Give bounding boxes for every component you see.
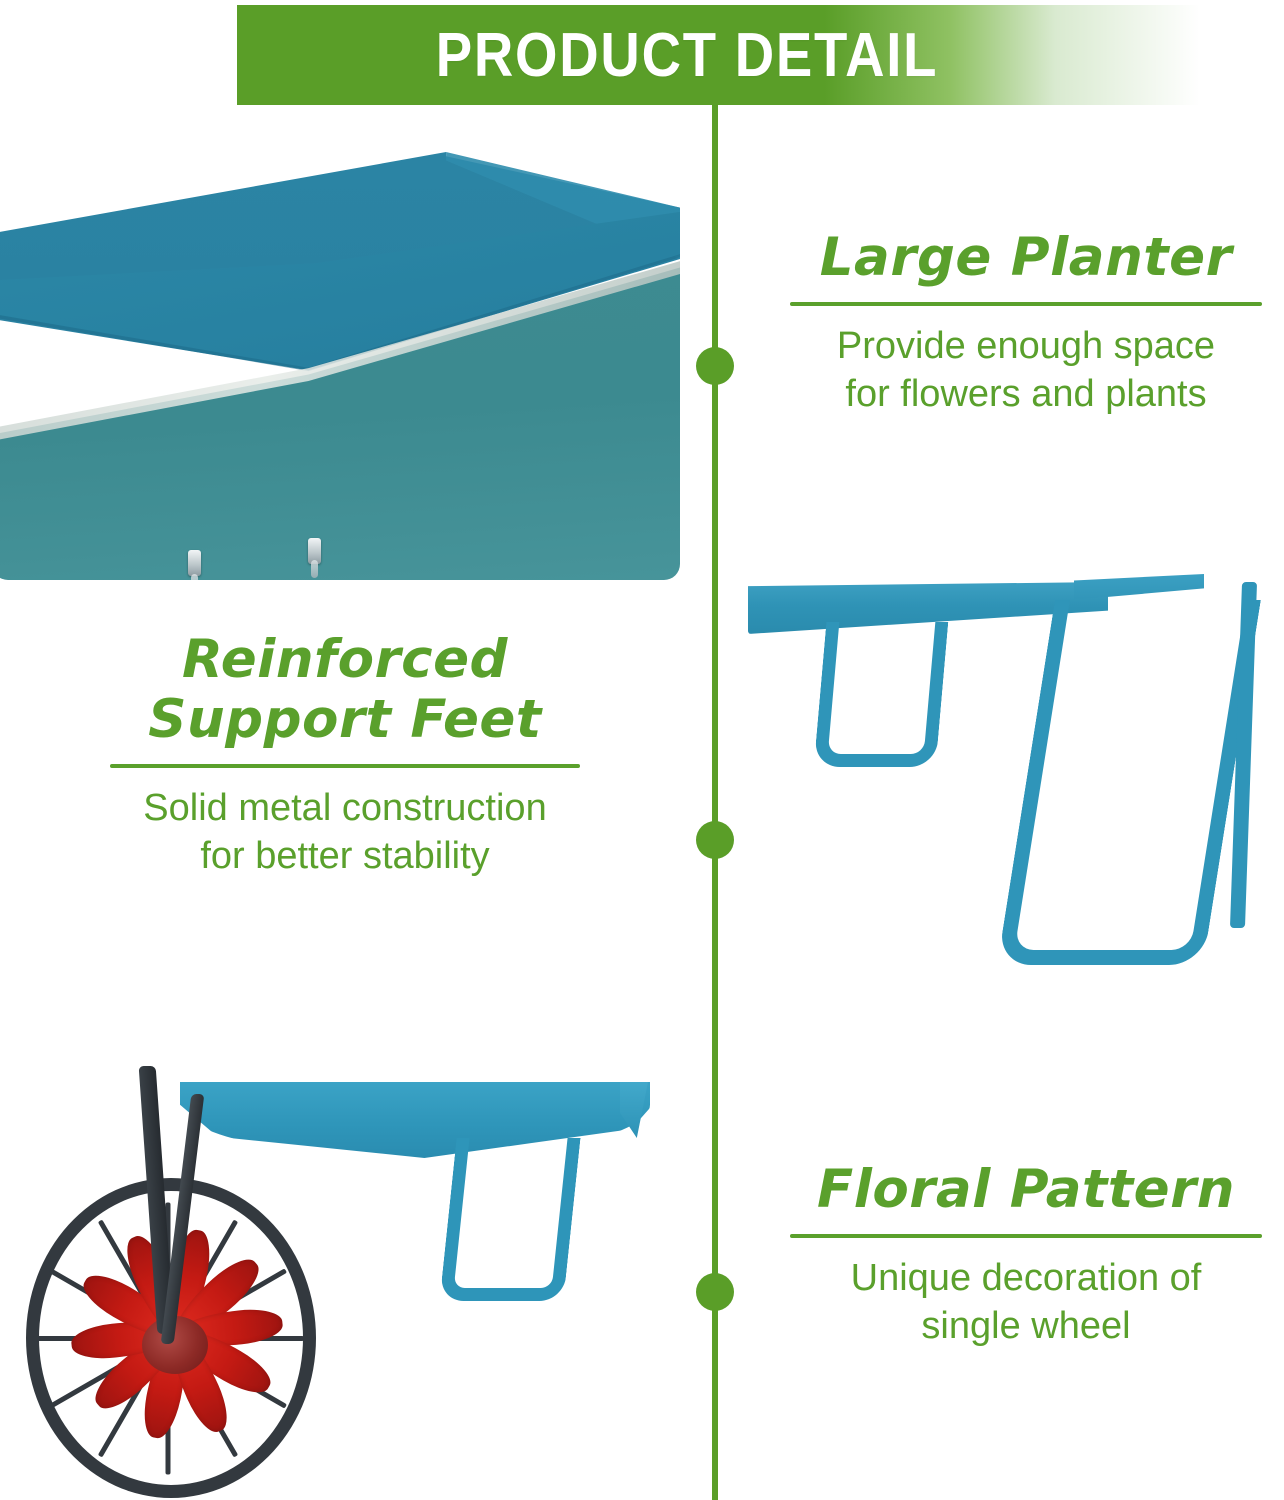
feature-block-large-planter: Large Planter Provide enough space for f… bbox=[790, 228, 1262, 418]
feature-block-support-feet: Reinforced Support Feet Solid metal cons… bbox=[110, 630, 580, 880]
feature-divider-floral-pattern bbox=[790, 1234, 1262, 1238]
timeline-dot-2 bbox=[696, 821, 734, 859]
page-title: PRODUCT DETAIL bbox=[291, 5, 1083, 105]
feature-divider-support-feet bbox=[110, 764, 580, 768]
product-detail-infographic: PRODUCT DETAIL Large Planter Provide eno… bbox=[0, 0, 1284, 1500]
feature-desc-line1-large-planter: Provide enough space bbox=[837, 325, 1215, 367]
planter-tray-interior-photo bbox=[0, 152, 680, 580]
planter-screw-left-shadow bbox=[191, 574, 198, 580]
hairpin-leg-right bbox=[997, 600, 1261, 965]
planter-screw-left bbox=[188, 550, 201, 576]
flower-wheel-photo bbox=[0, 1060, 660, 1500]
wheel-photo-hairpin-leg bbox=[439, 1138, 580, 1301]
feature-desc-line2-large-planter: for flowers and plants bbox=[845, 373, 1206, 415]
feature-heading-line2-support-feet: Support Feet bbox=[148, 689, 541, 750]
feature-desc-line1-support-feet: Solid metal construction bbox=[143, 787, 546, 829]
feature-desc-line2-support-feet: for better stability bbox=[200, 835, 489, 877]
feature-divider-large-planter bbox=[790, 302, 1262, 306]
timeline-dot-1 bbox=[696, 347, 734, 385]
feature-heading-floral-pattern: Floral Pattern bbox=[790, 1160, 1262, 1220]
timeline-dot-3 bbox=[696, 1273, 734, 1311]
planter-screw-right-shadow bbox=[311, 560, 318, 578]
feature-heading-large-planter: Large Planter bbox=[790, 228, 1262, 288]
feature-block-floral-pattern: Floral Pattern Unique decoration of sing… bbox=[790, 1160, 1262, 1350]
hairpin-leg-left bbox=[814, 622, 949, 767]
hairpin-support-feet-photo bbox=[744, 564, 1284, 994]
feature-desc-line1-floral-pattern: Unique decoration of bbox=[851, 1257, 1202, 1299]
feature-heading-line1-support-feet: Reinforced bbox=[182, 629, 508, 690]
feature-desc-line2-floral-pattern: single wheel bbox=[921, 1305, 1130, 1347]
